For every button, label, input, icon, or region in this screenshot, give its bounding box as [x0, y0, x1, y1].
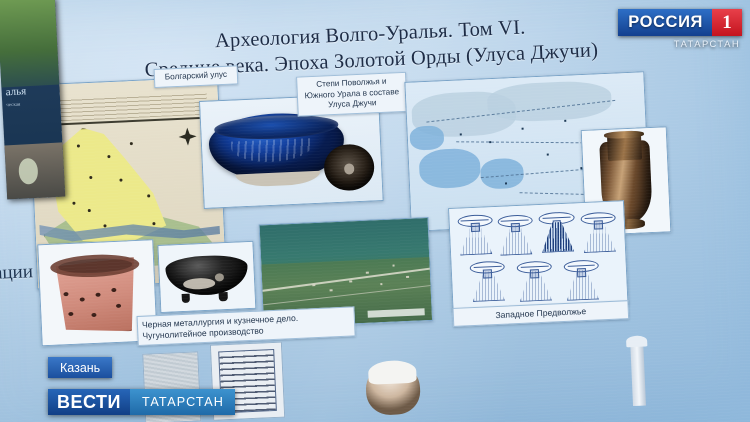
pottery-profile-highlighted	[538, 211, 576, 253]
cauldron-leg	[181, 294, 190, 304]
building	[393, 264, 395, 266]
slide-left-text-fragment: ации	[0, 261, 33, 285]
channel-logo: РОССИЯ 1	[618, 9, 742, 36]
map-site-dot	[152, 222, 155, 225]
cauldron-backdrop	[158, 242, 255, 312]
map-site-dot	[147, 194, 150, 197]
map-city-marker	[505, 182, 507, 184]
cast-iron-cauldron	[165, 254, 249, 297]
book-title-fragment: алья	[5, 85, 26, 98]
channel-number-text: 1	[722, 12, 732, 34]
book-cover-display: алья ческая	[0, 0, 65, 199]
building	[313, 284, 315, 286]
building	[407, 276, 409, 278]
map-site-dot	[77, 144, 80, 147]
bowl-foot	[235, 171, 321, 188]
program-logo-name: ВЕСТИ	[48, 389, 130, 415]
building	[350, 281, 352, 283]
crucible-hole	[63, 292, 68, 296]
city-tag: Казань	[48, 357, 112, 378]
program-logo: ВЕСТИ ТАТАРСТАН	[48, 389, 235, 415]
building	[330, 290, 332, 292]
map-city-marker	[489, 141, 491, 143]
book-cover-title: алья ческая	[5, 85, 58, 110]
cauldron-leg	[219, 292, 228, 302]
map-city-marker	[564, 120, 566, 122]
map-site-dot	[130, 142, 133, 145]
figure-pottery-profiles	[448, 200, 628, 312]
figure-minaret	[630, 346, 646, 407]
channel-logo-number: 1	[712, 9, 742, 36]
channel-logo-name: РОССИЯ	[618, 9, 712, 36]
building	[366, 272, 368, 274]
crucible-hole	[111, 288, 116, 292]
city-tag-text: Казань	[60, 361, 100, 375]
slide-content: Археология Волго-Уралья. Том VI. Средние…	[20, 0, 728, 422]
crucible-hole	[95, 293, 100, 297]
building	[380, 283, 382, 285]
map-site-dot	[87, 209, 90, 212]
small-dark-vessel	[323, 143, 375, 192]
map-city-marker	[522, 128, 524, 130]
figure-person-head	[365, 362, 421, 416]
tv-news-frame: Археология Волго-Уралья. Том VI. Средние…	[0, 0, 750, 422]
pottery-profile	[516, 260, 554, 302]
program-name-text: ВЕСТИ	[57, 392, 121, 413]
pottery-profile	[469, 260, 507, 302]
book-subtitle-fragment: ческая	[6, 99, 59, 109]
pottery-profile	[580, 211, 618, 253]
map-site-dot	[72, 201, 75, 204]
map-city-marker	[547, 154, 549, 156]
pottery-profile	[496, 213, 534, 255]
pottery-profile	[456, 213, 494, 255]
compass-rose-icon	[179, 127, 198, 146]
caption-steppes-of-volga: Степи Поволжья и Южного Урала в составе …	[296, 72, 408, 117]
map-site-dot	[103, 224, 106, 227]
book-cover-photo	[0, 0, 59, 88]
program-logo-region: ТАТАРСТАН	[130, 389, 235, 415]
black-sea	[418, 148, 482, 189]
channel-region-label: ТАТАРСТАН	[674, 38, 740, 49]
crucible-hole	[79, 297, 84, 301]
channel-name-text: РОССИЯ	[628, 13, 703, 32]
map-city-marker	[460, 134, 462, 136]
pottery-chart-backdrop	[449, 201, 627, 311]
pottery-profile	[563, 258, 601, 300]
presentation-screen: Археология Волго-Уралья. Том VI. Средние…	[0, 0, 750, 422]
book-cover-photo-secondary	[4, 142, 65, 199]
figure-cast-iron-cauldron	[157, 241, 256, 313]
caption-bulgar-ulus: Болгарский улус	[154, 65, 239, 87]
program-region-text: ТАТАРСТАН	[142, 395, 224, 409]
skullcap	[368, 360, 416, 385]
baltic-sea	[410, 126, 444, 151]
